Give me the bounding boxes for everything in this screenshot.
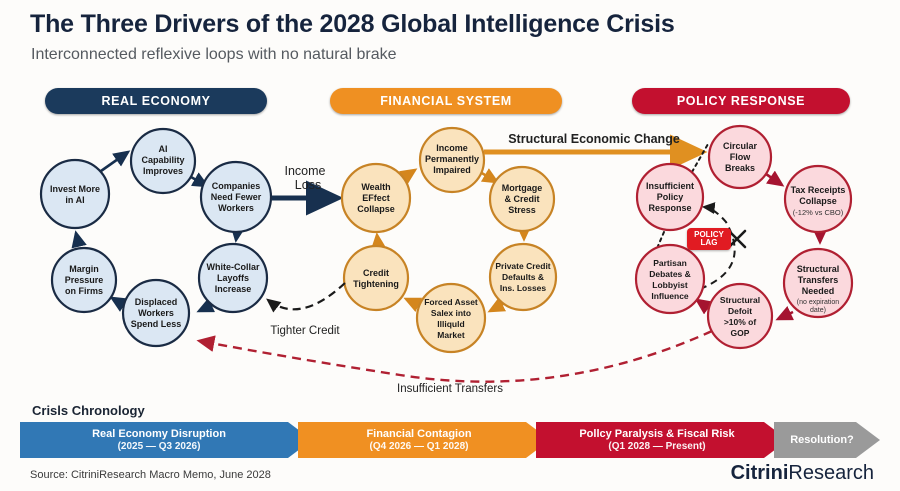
node-label-line: GOP [731, 328, 750, 338]
node-label-line: Pressure [65, 275, 104, 285]
node-tax-receipts-collapse[interactable]: Tax Receipts Collapse (-12% vs CBO) [785, 166, 851, 232]
node-label-line: Response [648, 203, 691, 213]
dotted-insufficient-to-partisan [658, 232, 664, 246]
node-invest-more-in-ai[interactable]: Invest More in AI [41, 160, 109, 228]
node-label-line: Private Credit [495, 261, 550, 271]
node-label-line: Forced Asset [424, 297, 478, 307]
node-label-line: Impaired [433, 165, 471, 175]
chronology-title: Crisls Chronology [32, 403, 145, 418]
node-label-line: Spend Less [131, 319, 182, 329]
chronology-segment-label: Financial Contagion [366, 428, 471, 440]
node-white-collar-layoffs-increase[interactable]: White-Collar Layoffs Increase [199, 244, 267, 312]
node-label-line: Needed [802, 286, 835, 296]
node-mortgage-credit-stress[interactable]: Mortgage & Credit Stress [490, 167, 554, 231]
node-label-line: EFfect [362, 193, 390, 203]
brand-logo-bold: Citrini [731, 462, 789, 484]
node-label-line: Invest More [50, 184, 100, 194]
arrow-companies-to-layoffs [236, 233, 237, 240]
node-label-line: Breaks [725, 163, 755, 173]
node-label-line: Partisan [653, 258, 687, 268]
arrow-margin-to-invest [76, 233, 79, 246]
node-sublabel-2: date) [810, 307, 826, 314]
node-companies-need-fewer-workers[interactable]: Companies Need Fewer Workers [201, 162, 271, 232]
financial-system-nodes: Income Permanently Impaired Mortgage & C… [342, 128, 556, 352]
node-label-line: Illiquld [437, 319, 464, 329]
node-label-line: Permanently [425, 154, 479, 164]
node-wealth-effect-collapse[interactable]: Wealth EFfect Collapse [342, 164, 410, 232]
node-label-line: Policy [657, 192, 684, 202]
chronology-segment-label: Real Economy Disruption [92, 428, 226, 440]
policy-lag-badge: POLICY LAG [687, 228, 731, 250]
node-label-line: Ins. Losses [500, 283, 547, 293]
node-label-line: on Firms [65, 286, 103, 296]
node-label-line: Influence [651, 291, 689, 301]
arrow-credit-tightening-to-wealth [377, 235, 378, 244]
infographic-root: The Three Drivers of the 2028 Global Int… [0, 0, 900, 491]
node-private-credit-defaults-ins-losses[interactable]: Private Credit Defaults & Ins. Losses [490, 244, 556, 310]
node-label-line: Collapse [357, 204, 395, 214]
chronology-segment-real-economy-disruption[interactable]: Real Economy Disruption (2025 — Q3 2026) [20, 422, 298, 458]
node-label-line: Displaced [135, 297, 178, 307]
node-label-line: Circular [723, 141, 758, 151]
node-label-line: & Credit [504, 194, 539, 204]
arrow-circular-to-tax [766, 174, 782, 185]
chronology-segment-policy-paralysis-fiscal-risk[interactable]: Pollcy Paralysis & Fiscal Risk (Q1 2028 … [538, 422, 776, 458]
source-note: Source: CitriniResearch Macro Memo, June… [30, 469, 271, 481]
node-displaced-workers-spend-less[interactable]: Displaced Workers Spend Less [123, 280, 189, 346]
connector-label-tighter-credit: Tighter Credit [270, 325, 340, 337]
node-label-line: Margin [69, 264, 99, 274]
connector-label-insufficient-transfers: Insufficient Transfers [397, 383, 503, 395]
node-credit-tightening[interactable]: Credit Tightening [344, 246, 408, 310]
chronology-segment-financial-contagion[interactable]: Financial Contagion (Q4 2026 — Q1 2028) [300, 422, 538, 458]
node-ai-capability-improves[interactable]: AI Capability Improves [131, 129, 195, 193]
dotted-insufficient-to-circular [692, 144, 708, 172]
node-label-line: Insufficient [646, 181, 694, 191]
node-label-line: Collapse [799, 196, 837, 206]
node-label-line: Increase [215, 284, 252, 294]
node-label-line: Income [436, 143, 468, 153]
chronology-segment-resolution[interactable]: Resolution? [776, 422, 868, 458]
node-label-line: Stress [508, 205, 536, 215]
node-sublabel: (no expiration [797, 299, 840, 306]
node-label-line: Defoit [728, 306, 752, 316]
node-label-line: Wealth [361, 182, 390, 192]
node-label-line: Workers [138, 308, 174, 318]
node-label-line: AI [159, 144, 168, 154]
node-label-line: Transfers [798, 275, 839, 285]
node-label-line: in AI [65, 195, 84, 205]
connector-tighter-credit: Tighter Credit [268, 283, 345, 337]
node-partisan-debates-lobbyist-influence[interactable]: Partisan Debates & Lobbyist Influence [636, 245, 704, 313]
node-income-permanently-impaired[interactable]: Income Permanently Impaired [420, 128, 484, 192]
node-label-line: Companies [212, 181, 261, 191]
node-label-line: Tax Receipts [791, 185, 846, 195]
connector-structural-economic-change: Structural Economic Change [484, 132, 700, 152]
chronology-segment-label: Resolution? [790, 434, 854, 446]
connector-income-loss: Income Loss [272, 164, 336, 198]
node-label-line: Layoffs [217, 273, 249, 283]
chronology-segment-period: (Q4 2026 — Q1 2028) [370, 441, 469, 452]
node-margin-pressure-on-firms[interactable]: Margin Pressure on Firms [52, 248, 116, 312]
node-label-line: Market [437, 330, 465, 340]
node-label-line: Structural [797, 264, 840, 274]
chronology-segment-period: (Q1 2028 — Present) [608, 441, 705, 452]
brand-logo-normal: Research [788, 462, 874, 484]
arrow-deficit-to-partisan [697, 300, 707, 307]
node-label-line: Defaults & [502, 272, 544, 282]
arrow-wealth-to-income [403, 170, 415, 178]
chronology-segment-period: (2025 — Q3 2026) [118, 441, 201, 452]
brand-logo: CitriniResearch [731, 462, 874, 485]
node-label-line: Lobbyist [652, 280, 688, 290]
node-label-line: Debates & [649, 269, 691, 279]
node-label-line: Mortgage [502, 183, 543, 193]
node-structural-transfers-needed[interactable]: Structural Transfers Needed (no expirati… [784, 249, 852, 317]
node-label-line: Improves [143, 166, 183, 176]
node-label-line: Salex into [431, 308, 471, 318]
crisis-chronology-bar: Real Economy Disruption (2025 — Q3 2026)… [20, 422, 880, 458]
node-label-line: Flow [730, 152, 751, 162]
node-label-line: Need Fewer [211, 192, 262, 202]
connector-label-income-loss-line1: Income [285, 164, 326, 178]
policy-lag-line2: LAG [701, 239, 718, 247]
connector-label-structural-economic-change: Structural Economic Change [508, 132, 680, 146]
blocked-x-icon [729, 231, 745, 247]
connector-label-income-loss-line2: Loss [295, 178, 321, 192]
node-label-line: Credit [363, 268, 389, 278]
chronology-segment-label: Pollcy Paralysis & Fiscal Risk [579, 428, 734, 440]
node-forced-asset-sales-into-illiquid-market[interactable]: Forced Asset Salex into Illiquld Market [417, 284, 485, 352]
node-label-line: Structural [720, 295, 760, 305]
node-label-line: Tightening [353, 279, 399, 289]
node-label-line: Workers [218, 203, 254, 213]
node-label-line: Capability [141, 155, 184, 165]
node-insufficient-policy-response[interactable]: Insufficient Policy Response [637, 164, 703, 230]
node-label-line: >10% of [724, 317, 757, 327]
arrow-transfers-to-deficit [778, 312, 793, 319]
arrow-income-to-mortgage [480, 172, 497, 182]
node-structural-deficit-gdp[interactable]: Structural Defoit >10% of GOP [708, 284, 772, 348]
node-label-line: White-Collar [207, 262, 260, 272]
node-sublabel: (-12% vs CBO) [793, 208, 844, 217]
arrow-forced-sales-to-credit-tightening [406, 299, 419, 305]
arrow-displaced-to-margin [112, 298, 122, 304]
arrow-invest-to-ai [101, 152, 128, 171]
node-circular-flow-breaks[interactable]: Circular Flow Breaks [709, 126, 771, 188]
